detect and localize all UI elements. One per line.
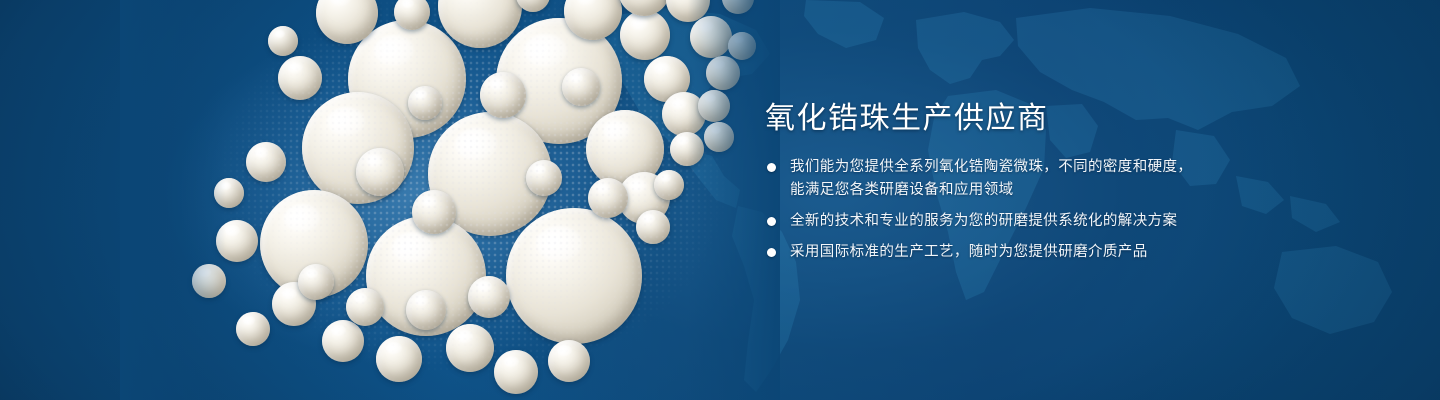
bead — [216, 220, 258, 262]
bullet-text-line1: 我们能为您提供全系列氧化锆陶瓷微珠，不同的密度和硬度， — [790, 159, 1192, 175]
bead — [704, 122, 734, 152]
bead — [494, 350, 538, 394]
bead — [246, 142, 286, 182]
bullet-dot-icon — [767, 217, 776, 226]
bead — [468, 276, 510, 318]
bead — [322, 320, 364, 362]
bead — [548, 340, 590, 382]
bead — [446, 324, 494, 372]
bead — [268, 26, 298, 56]
bead — [346, 288, 384, 326]
list-item: 我们能为您提供全系列氧化锆陶瓷微珠，不同的密度和硬度， 能满足您各类研磨设备和应… — [765, 156, 1325, 202]
bullet-text-line1: 采用国际标准的生产工艺，随时为您提供研磨介质产品 — [790, 244, 1148, 260]
banner-feature-list: 我们能为您提供全系列氧化锆陶瓷微珠，不同的密度和硬度， 能满足您各类研磨设备和应… — [765, 156, 1325, 264]
bead — [654, 170, 684, 200]
bead — [698, 90, 730, 122]
banner-content: 氧化锆珠生产供应商 我们能为您提供全系列氧化锆陶瓷微珠，不同的密度和硬度， 能满… — [765, 104, 1325, 264]
bead — [562, 68, 600, 106]
bead — [728, 32, 756, 60]
bead — [506, 208, 642, 344]
bead — [214, 178, 244, 208]
bead — [192, 264, 226, 298]
bead — [480, 72, 526, 118]
bead-cluster — [150, 0, 750, 400]
bullet-text-line2: 能满足您各类研磨设备和应用领域 — [790, 179, 1325, 202]
bead — [412, 190, 456, 234]
list-item: 采用国际标准的生产工艺，随时为您提供研磨介质产品 — [765, 241, 1325, 264]
bead — [356, 148, 404, 196]
bead — [618, 0, 670, 16]
product-photo-zirconia-beads — [150, 0, 750, 400]
bead — [690, 16, 732, 58]
bead — [636, 210, 670, 244]
bead — [722, 0, 754, 14]
bead — [406, 290, 446, 330]
bead — [588, 178, 628, 218]
banner-headline: 氧化锆珠生产供应商 — [765, 104, 1325, 134]
hero-banner: 氧化锆珠生产供应商 我们能为您提供全系列氧化锆陶瓷微珠，不同的密度和硬度， 能满… — [0, 0, 1440, 400]
list-item: 全新的技术和专业的服务为您的研磨提供系统化的解决方案 — [765, 210, 1325, 233]
bullet-dot-icon — [767, 163, 776, 172]
bead — [278, 56, 322, 100]
bead — [298, 264, 334, 300]
bead — [408, 86, 442, 120]
bead — [376, 336, 422, 382]
bead — [526, 160, 562, 196]
bead — [706, 56, 740, 90]
bead — [620, 10, 670, 60]
bead — [236, 312, 270, 346]
bullet-text-line1: 全新的技术和专业的服务为您的研磨提供系统化的解决方案 — [790, 213, 1177, 229]
bead — [670, 132, 704, 166]
bullet-dot-icon — [767, 248, 776, 257]
